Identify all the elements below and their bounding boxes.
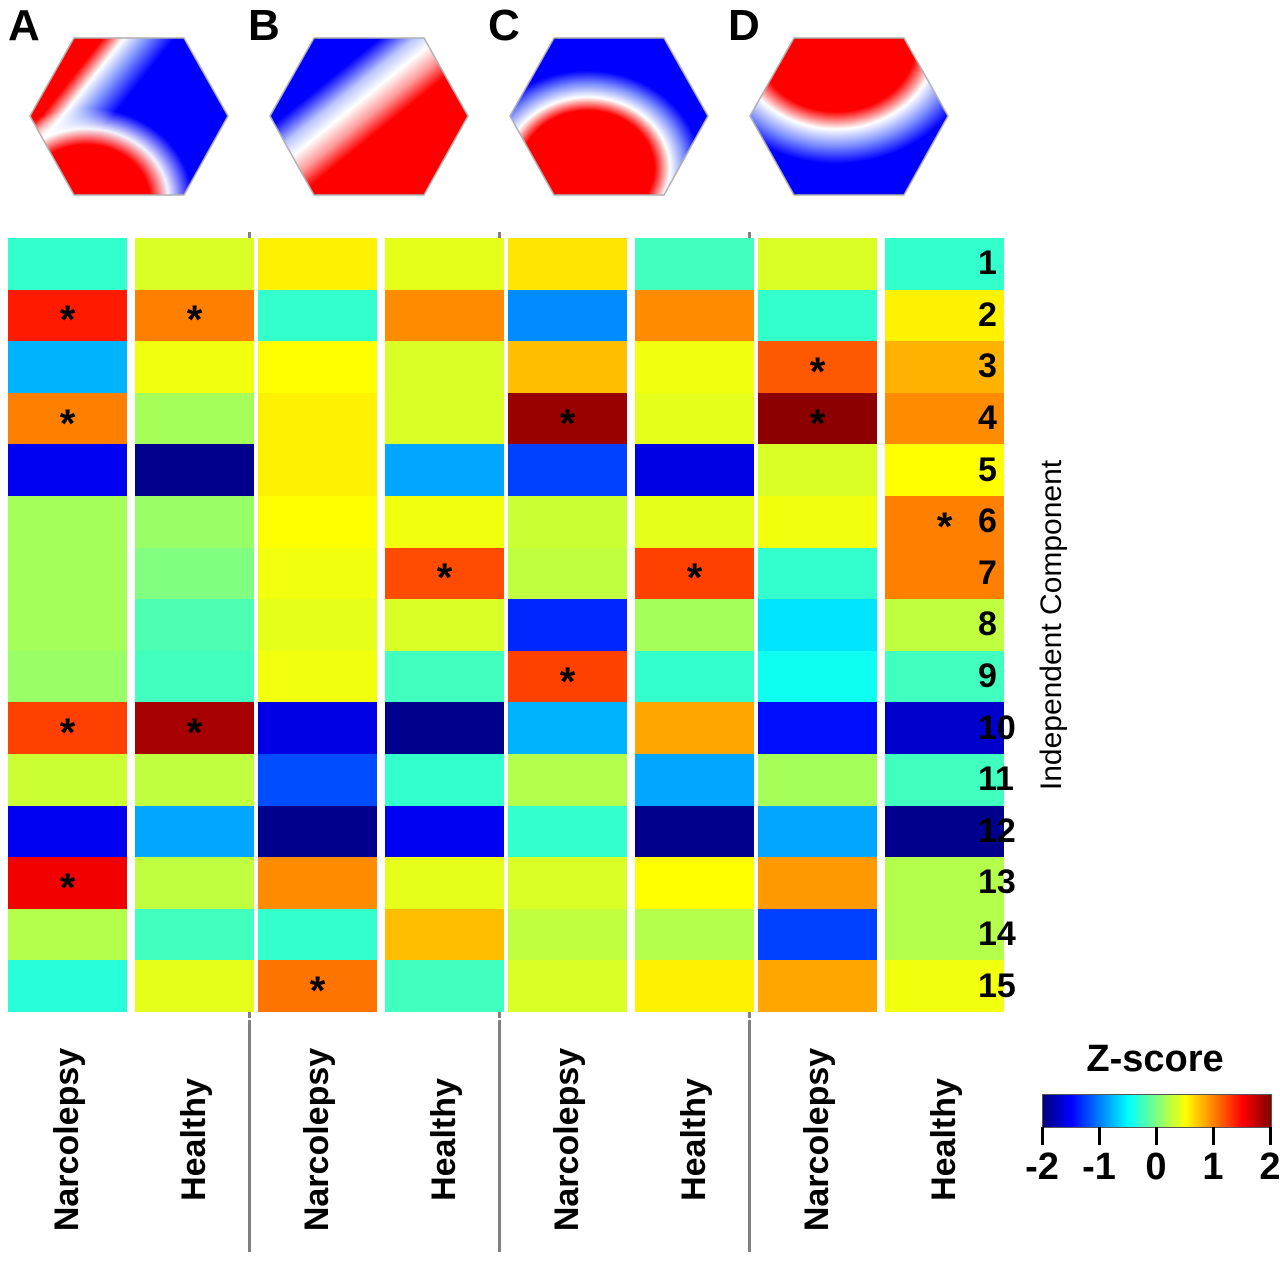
row-label-column: 123456789101112131415	[978, 232, 1038, 1018]
legend-title: Z-score	[1030, 1038, 1280, 1081]
heatmap-column-a-healthy: **	[135, 238, 254, 1012]
heatmap-cell	[135, 754, 254, 806]
heatmap-cell	[508, 702, 627, 754]
heatmap-cell	[758, 960, 877, 1012]
heatmap-cell	[135, 651, 254, 703]
heatmap-cell	[758, 444, 877, 496]
heatmap-cell	[758, 290, 877, 342]
row-label-8: 8	[978, 599, 1036, 651]
topo-map-b	[262, 24, 476, 209]
topo-map-c	[502, 24, 716, 209]
heatmap-cell	[8, 444, 127, 496]
group-separator-bottom-1	[248, 1020, 251, 1252]
heatmap-cell	[508, 496, 627, 548]
heatmap-cell	[258, 238, 377, 290]
heatmap-cell	[258, 444, 377, 496]
heatmap-cell	[385, 496, 504, 548]
heatmap-cell	[8, 754, 127, 806]
heatmap-cell: *	[508, 651, 627, 703]
heatmap-cell: *	[258, 960, 377, 1012]
heatmap-cell: *	[758, 341, 877, 393]
heatmap-cell	[758, 909, 877, 961]
column-label-5: Healthy	[635, 1020, 754, 1270]
heatmap-cell	[8, 341, 127, 393]
topographic-map-row: A	[0, 0, 1030, 225]
heatmap-cell	[508, 806, 627, 858]
heatmap-cell	[8, 651, 127, 703]
colorbar-tick-0	[1155, 1127, 1158, 1145]
heatmap-cell	[385, 702, 504, 754]
heatmap-cell	[758, 238, 877, 290]
row-label-4: 4	[978, 393, 1036, 445]
column-label-3: Healthy	[385, 1020, 504, 1270]
heatmap-column-c-narcolepsy: **	[508, 238, 627, 1012]
heatmap-column-b-healthy: *	[385, 238, 504, 1012]
heatmap-cell: *	[8, 393, 127, 445]
heatmap-cell: *	[635, 548, 754, 600]
colorbar-tick-label-0: 0	[1128, 1146, 1184, 1189]
heatmap-cell	[258, 548, 377, 600]
heatmap-cell	[385, 444, 504, 496]
heatmap-cell	[135, 548, 254, 600]
topo-map-d	[742, 24, 956, 209]
heatmap-cell	[635, 909, 754, 961]
column-label-6: Narcolepsy	[758, 1020, 877, 1270]
heatmap-cell	[385, 238, 504, 290]
column-label-4: Narcolepsy	[508, 1020, 627, 1270]
heatmap-cell	[758, 806, 877, 858]
heatmap-cell	[508, 857, 627, 909]
row-label-10: 10	[978, 702, 1036, 754]
heatmap-cell	[508, 754, 627, 806]
heatmap-cell	[385, 599, 504, 651]
heatmap-column-b-narcolepsy: *	[258, 238, 377, 1012]
column-label-text: Narcolepsy	[48, 1048, 87, 1231]
heatmap-cell: *	[508, 393, 627, 445]
heatmap-cell	[8, 548, 127, 600]
heatmap-column-d-narcolepsy: **	[758, 238, 877, 1012]
heatmap-cell	[135, 806, 254, 858]
heatmap-cell	[135, 960, 254, 1012]
y-axis-title: Independent Component	[1032, 232, 1072, 1018]
column-label-text: Healthy	[175, 1078, 214, 1201]
colorbar-tick-label--1: -1	[1071, 1146, 1127, 1189]
heatmap-cell: *	[385, 548, 504, 600]
heatmap-cell	[258, 909, 377, 961]
heatmap-cell	[258, 806, 377, 858]
heatmap-cell	[8, 238, 127, 290]
heatmap-cell	[758, 548, 877, 600]
colorbar-gradient	[1042, 1094, 1272, 1128]
group-separator-bottom-3	[748, 1020, 751, 1252]
heatmap-cell	[758, 651, 877, 703]
heatmap-cell	[8, 599, 127, 651]
heatmap-cell	[258, 496, 377, 548]
colorbar-tick-1	[1212, 1127, 1215, 1145]
heatmap-cell	[635, 341, 754, 393]
heatmap-column-a-narcolepsy: ****	[8, 238, 127, 1012]
heatmap-cell	[258, 393, 377, 445]
heatmap-cell	[635, 806, 754, 858]
heatmap-cell	[508, 548, 627, 600]
heatmap-cell	[258, 857, 377, 909]
heatmap-cell	[385, 651, 504, 703]
y-axis-title-text: Independent Component	[1035, 460, 1069, 790]
row-label-9: 9	[978, 651, 1036, 703]
heatmap-cell	[385, 909, 504, 961]
heatmap-cell	[508, 444, 627, 496]
heatmap-cell	[635, 960, 754, 1012]
heatmap-cell	[135, 599, 254, 651]
colorbar-tick-label-1: 1	[1185, 1146, 1241, 1189]
heatmap-cell	[258, 290, 377, 342]
heatmap-cell	[508, 290, 627, 342]
heatmap-cell: *	[135, 290, 254, 342]
heatmap-cell	[258, 341, 377, 393]
column-label-text: Narcolepsy	[298, 1048, 337, 1231]
heatmap-cell	[135, 444, 254, 496]
heatmap-cell	[508, 238, 627, 290]
row-label-11: 11	[978, 754, 1036, 806]
heatmap-cell	[385, 393, 504, 445]
column-label-text: Healthy	[675, 1078, 714, 1201]
heatmap-cell	[385, 806, 504, 858]
heatmap-cell	[635, 444, 754, 496]
colorbar-tick--1	[1098, 1127, 1101, 1145]
heatmap-grid: **************	[0, 232, 1030, 1018]
heatmap-cell	[508, 341, 627, 393]
heatmap-cell	[135, 496, 254, 548]
colorbar-tick-2	[1269, 1127, 1272, 1145]
row-label-1: 1	[978, 238, 1036, 290]
topo-map-a	[22, 24, 236, 209]
heatmap-cell	[635, 857, 754, 909]
heatmap-cell	[635, 702, 754, 754]
column-label-2: Narcolepsy	[258, 1020, 377, 1270]
column-label-text: Healthy	[925, 1078, 964, 1201]
heatmap-cell	[258, 702, 377, 754]
heatmap-cell: *	[758, 393, 877, 445]
column-label-7: Healthy	[885, 1020, 1004, 1270]
heatmap-cell	[258, 599, 377, 651]
heatmap-cell	[135, 909, 254, 961]
row-label-14: 14	[978, 909, 1036, 961]
heatmap-cell: *	[8, 290, 127, 342]
column-label-text: Narcolepsy	[798, 1048, 837, 1231]
heatmap-cell: *	[135, 702, 254, 754]
heatmap-cell	[758, 702, 877, 754]
heatmap-cell	[508, 909, 627, 961]
heatmap-cell	[385, 857, 504, 909]
row-label-6: 6	[978, 496, 1036, 548]
heatmap-cell: *	[8, 702, 127, 754]
row-label-13: 13	[978, 857, 1036, 909]
heatmap-cell	[385, 960, 504, 1012]
row-label-12: 12	[978, 806, 1036, 858]
row-label-5: 5	[978, 444, 1036, 496]
heatmap-cell	[635, 238, 754, 290]
heatmap-cell	[135, 857, 254, 909]
group-separator-bottom-2	[498, 1020, 501, 1252]
heatmap-cell	[635, 290, 754, 342]
row-label-7: 7	[978, 548, 1036, 600]
row-label-3: 3	[978, 341, 1036, 393]
heatmap-cell: *	[8, 857, 127, 909]
heatmap-cell	[8, 960, 127, 1012]
heatmap-cell	[258, 754, 377, 806]
heatmap-cell	[385, 341, 504, 393]
column-label-0: Narcolepsy	[8, 1020, 127, 1270]
heatmap-cell	[508, 599, 627, 651]
heatmap-cell	[258, 651, 377, 703]
heatmap-cell	[135, 393, 254, 445]
heatmap-cell	[635, 496, 754, 548]
column-label-row: NarcolepsyHealthyNarcolepsyHealthyNarcol…	[0, 1020, 1030, 1274]
column-label-text: Healthy	[425, 1078, 464, 1201]
heatmap-cell	[8, 806, 127, 858]
heatmap-cell	[635, 393, 754, 445]
heatmap-cell	[508, 960, 627, 1012]
heatmap-cell	[135, 341, 254, 393]
heatmap-cell	[758, 857, 877, 909]
heatmap-cell	[385, 754, 504, 806]
heatmap-cell	[635, 599, 754, 651]
heatmap-cell	[385, 290, 504, 342]
colorbar-tick-label-2: 2	[1242, 1146, 1280, 1189]
row-label-2: 2	[978, 290, 1036, 342]
heatmap-cell	[635, 754, 754, 806]
colorbar-tick--2	[1041, 1127, 1044, 1145]
colorbar-tick-label--2: -2	[1014, 1146, 1070, 1189]
column-label-1: Healthy	[135, 1020, 254, 1270]
column-label-text: Narcolepsy	[548, 1048, 587, 1231]
heatmap-cell	[758, 496, 877, 548]
row-label-15: 15	[978, 960, 1036, 1012]
heatmap-cell	[8, 909, 127, 961]
heatmap-cell	[758, 754, 877, 806]
legend: Z-score -2-1012	[1030, 1026, 1280, 1236]
heatmap-cell	[135, 238, 254, 290]
heatmap-cell	[635, 651, 754, 703]
heatmap-column-c-healthy: *	[635, 238, 754, 1012]
heatmap-cell	[758, 599, 877, 651]
heatmap-cell	[8, 496, 127, 548]
